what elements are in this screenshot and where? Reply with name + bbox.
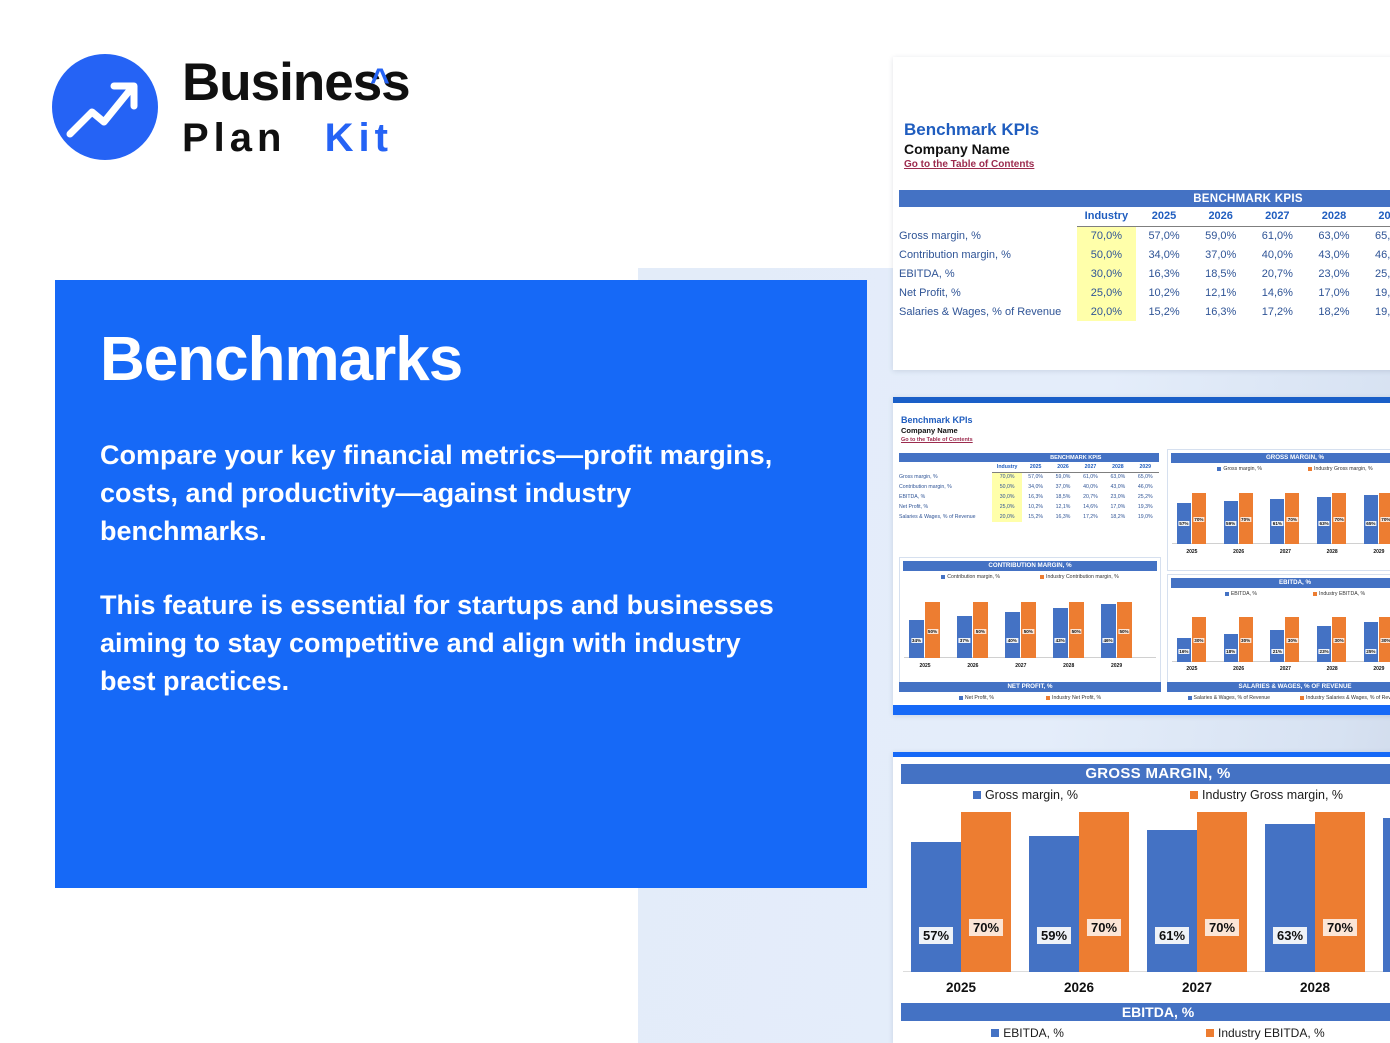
cell-2025: 10,2%	[1022, 502, 1049, 512]
chart-legend: Salaries & Wages, % of Revenue Industry …	[1167, 695, 1390, 701]
cell-industry: 20,0%	[992, 512, 1021, 522]
bar-industry[interactable]: 50%	[973, 602, 988, 658]
bar-industry[interactable]: 50%	[1117, 602, 1132, 658]
cell-2029: 65,0%	[1362, 226, 1390, 245]
legend-label-company: Salaries & Wages, % of Revenue	[1194, 695, 1271, 701]
bar-group[interactable]: 46% 50%	[1101, 602, 1132, 658]
bar-industry[interactable]: 70%	[1079, 812, 1129, 972]
bar-group[interactable]: 57% 70%	[911, 812, 1011, 972]
cell-2029: 25,2%	[1132, 492, 1159, 502]
legend-swatch-company-icon	[959, 696, 963, 700]
cell-2026: 18,5%	[1192, 264, 1249, 283]
table-row[interactable]: Salaries & Wages, % of Revenue 20,0% 15,…	[899, 512, 1159, 522]
chart-legend-gross-margin: Gross margin, % Industry Gross margin, %	[901, 788, 1390, 802]
cell-2028: 23,0%	[1104, 492, 1131, 502]
legend-label-industry: Industry EBITDA, %	[1218, 1026, 1325, 1040]
table-band-label: BENCHMARK KPIS	[1077, 190, 1390, 207]
col-2027: 2027	[1249, 207, 1306, 226]
row-label: Contribution margin, %	[899, 482, 992, 492]
col-2028: 2028	[1306, 207, 1363, 226]
bar-group[interactable]: 16% 30%	[1177, 617, 1206, 662]
chart-legend: Net Profit, % Industry Net Profit, %	[899, 695, 1161, 701]
cell-2025: 57,0%	[1022, 472, 1049, 482]
bar-company[interactable]: 61%	[1270, 499, 1284, 544]
bar-group[interactable]: 59% 70%	[1029, 812, 1129, 972]
x-tick: 2028	[1265, 980, 1365, 995]
bar-company[interactable]: 63%	[1265, 824, 1315, 972]
bar-industry[interactable]: 50%	[1069, 602, 1084, 658]
cell-2029: 19,0%	[1362, 302, 1390, 321]
legend-label-company: Net Profit, %	[965, 695, 994, 701]
cell-2028: 63,0%	[1104, 472, 1131, 482]
x-tick: 2028	[1317, 549, 1347, 555]
logo-word-plan: Plan	[182, 116, 286, 160]
bar-group[interactable]: 57% 70%	[1177, 493, 1206, 544]
toc-link[interactable]: Go to the Table of Contents	[904, 158, 1039, 172]
bar-group[interactable]: 65% 70%	[1383, 812, 1390, 972]
cell-2026: 18,5%	[1049, 492, 1076, 502]
bar-group[interactable]: 37% 50%	[957, 602, 988, 658]
cell-2026: 12,1%	[1049, 502, 1076, 512]
cell-2027: 61,0%	[1077, 472, 1104, 482]
growth-arrow-icon	[52, 54, 158, 160]
cell-2025: 15,2%	[1022, 512, 1049, 522]
cell-2027: 17,2%	[1249, 302, 1306, 321]
bar-group[interactable]: 43% 50%	[1053, 602, 1084, 658]
bar-industry[interactable]: 30%	[1379, 617, 1390, 662]
legend-swatch-company-icon	[973, 791, 981, 799]
sheet-company-name: Company Name	[904, 140, 1039, 158]
bar-group[interactable]: 34% 50%	[909, 602, 940, 658]
cell-2029: 65,0%	[1132, 472, 1159, 482]
cell-industry: 20,0%	[1077, 302, 1136, 321]
cell-2027: 40,0%	[1249, 245, 1306, 264]
legend-swatch-company-icon	[1188, 696, 1192, 700]
x-tick: 2027	[1005, 663, 1037, 669]
chart-title: GROSS MARGIN, %	[1171, 453, 1390, 463]
bar-group[interactable]: 61% 70%	[1270, 493, 1299, 544]
bar-group[interactable]: 61% 70%	[1147, 812, 1247, 972]
legend-swatch-company-icon	[991, 1029, 999, 1037]
bar-value-label: 70%	[1205, 919, 1239, 936]
bar-value-label: 70%	[969, 919, 1003, 936]
legend-label-industry: Industry Gross margin, %	[1314, 466, 1373, 472]
logo-word-kit: Kit	[325, 116, 393, 160]
screenshot-panel-dashboard[interactable]: Benchmark KPIs Company Name Go to the Ta…	[893, 397, 1390, 715]
table-row[interactable]: Net Profit, % 25,0% 10,2% 12,1% 14,6% 17…	[899, 502, 1159, 512]
legend-swatch-industry-icon	[1190, 791, 1198, 799]
chart-contribution-margin-small[interactable]: CONTRIBUTION MARGIN, % Contribution marg…	[899, 557, 1161, 685]
cell-2027: 20,7%	[1249, 264, 1306, 283]
hero-card: Benchmarks Compare your key financial me…	[55, 280, 867, 888]
x-tick: 2029	[1364, 549, 1390, 555]
col-2029: 2029	[1362, 207, 1390, 226]
bar-value-label: 59%	[1037, 927, 1071, 944]
cell-2028: 17,0%	[1104, 502, 1131, 512]
chart-gross-margin-small[interactable]: GROSS MARGIN, % Gross margin, % Industry…	[1167, 449, 1390, 571]
bar-industry[interactable]: 70%	[1285, 493, 1299, 544]
x-tick: 2026	[1224, 549, 1254, 555]
col-2027-mini: 2027	[1077, 462, 1104, 472]
cell-2028: 23,0%	[1306, 264, 1363, 283]
chart-net-profit-small[interactable]: NET PROFIT, % Net Profit, % Industry Net…	[899, 682, 1161, 701]
cell-industry: 25,0%	[992, 502, 1021, 512]
legend-label-company: EBITDA, %	[1003, 1026, 1064, 1040]
cell-2028: 43,0%	[1104, 482, 1131, 492]
legend-swatch-company-icon	[1225, 592, 1229, 596]
chart-legend-ebitda: EBITDA, % Industry EBITDA, %	[901, 1026, 1390, 1040]
row-label: Gross margin, %	[899, 472, 992, 482]
row-label: Contribution margin, %	[899, 245, 1077, 264]
chart-plot-area: 34% 50% 37% 50% 40% 50% 43% 50% 46% 50	[904, 584, 1156, 670]
col-2025: 2025	[1136, 207, 1193, 226]
table-row[interactable]: Contribution margin, % 50,0% 34,0% 37,0%…	[899, 245, 1390, 264]
table-row[interactable]: Salaries & Wages, % of Revenue 20,0% 15,…	[899, 302, 1390, 321]
col-industry: Industry	[1077, 207, 1136, 226]
bar-value-label: 61%	[1155, 927, 1189, 944]
cell-2026: 37,0%	[1192, 245, 1249, 264]
bar-company[interactable]: 37%	[957, 616, 972, 658]
row-label: Net Profit, %	[899, 502, 992, 512]
col-2028-mini: 2028	[1104, 462, 1131, 472]
bar-industry[interactable]: 70%	[1315, 812, 1365, 972]
cell-industry: 30,0%	[992, 492, 1021, 502]
bar-industry[interactable]: 30%	[1192, 617, 1206, 662]
legend-swatch-industry-icon	[1206, 1029, 1214, 1037]
bar-industry[interactable]: 70%	[1192, 493, 1206, 544]
chart-title: NET PROFIT, %	[899, 682, 1161, 692]
panel-top-band	[893, 752, 1390, 757]
x-tick: 2029	[1101, 663, 1133, 669]
x-tick: 2029	[1364, 666, 1390, 672]
bar-company[interactable]: 25%	[1364, 622, 1378, 662]
legend-label-industry: Industry Salaries & Wages, % of Revenue	[1306, 695, 1390, 701]
hero-paragraph-1: Compare your key financial metrics—profi…	[100, 436, 780, 550]
legend-label-company: EBITDA, %	[1231, 591, 1257, 597]
cell-2027: 40,0%	[1077, 482, 1104, 492]
cell-2026: 16,3%	[1192, 302, 1249, 321]
bar-group[interactable]: 59% 70%	[1224, 493, 1253, 544]
cell-2025: 10,2%	[1136, 283, 1193, 302]
legend-label-industry: Industry Contribution margin, %	[1046, 574, 1119, 580]
x-tick: 2028	[1317, 666, 1347, 672]
bar-company[interactable]: 65%	[1364, 495, 1378, 544]
row-label: Gross margin, %	[899, 226, 1077, 245]
bar-group[interactable]: 63% 70%	[1265, 812, 1365, 972]
col-2026: 2026	[1192, 207, 1249, 226]
brand-logo: Business ^ Plan Kit	[52, 52, 452, 162]
bar-industry[interactable]: 70%	[1379, 493, 1390, 544]
cell-2029: 19,3%	[1132, 502, 1159, 512]
cell-2029: 19,3%	[1362, 283, 1390, 302]
cell-2026: 59,0%	[1049, 472, 1076, 482]
legend-swatch-industry-icon	[1040, 575, 1044, 579]
sheet-title-mini: Benchmark KPIs	[901, 415, 973, 426]
bar-group[interactable]: 21% 30%	[1270, 617, 1299, 662]
row-label: EBITDA, %	[899, 492, 992, 502]
bar-value-label: 70%	[1087, 919, 1121, 936]
cell-2027: 14,6%	[1077, 502, 1104, 512]
cell-2029: 25,2%	[1362, 264, 1390, 283]
table-row[interactable]: EBITDA, % 30,0% 16,3% 18,5% 20,7% 23,0% …	[899, 264, 1390, 283]
legend-swatch-industry-icon	[1046, 696, 1050, 700]
legend-label-company: Gross margin, %	[1223, 466, 1262, 472]
cell-2025: 34,0%	[1022, 482, 1049, 492]
chart-title: CONTRIBUTION MARGIN, %	[903, 561, 1157, 571]
cell-industry: 70,0%	[992, 472, 1021, 482]
chart-title: SALARIES & WAGES, % OF REVENUE	[1167, 682, 1390, 692]
cell-industry: 25,0%	[1077, 283, 1136, 302]
hero-paragraph-2: This feature is essential for startups a…	[100, 586, 780, 700]
col-2029-mini: 2029	[1132, 462, 1159, 472]
bar-company[interactable]: 21%	[1270, 630, 1284, 662]
legend-label-industry: Industry Gross margin, %	[1202, 788, 1343, 802]
cell-2026: 59,0%	[1192, 226, 1249, 245]
row-label: Net Profit, %	[899, 283, 1077, 302]
table-row[interactable]: Gross margin, % 70,0% 57,0% 59,0% 61,0% …	[899, 226, 1390, 245]
cell-2026: 12,1%	[1192, 283, 1249, 302]
chart-legend: EBITDA, % Industry EBITDA, %	[1168, 591, 1390, 597]
panel-bottom-band	[893, 705, 1390, 715]
cell-2029: 46,0%	[1132, 482, 1159, 492]
legend-label-company: Contribution margin, %	[947, 574, 1000, 580]
bar-company[interactable]: 34%	[909, 620, 924, 658]
x-tick: 2025	[911, 980, 1011, 995]
cell-industry: 50,0%	[992, 482, 1021, 492]
table-band-label-mini: BENCHMARK KPIS	[992, 453, 1159, 462]
legend-label-industry: Industry EBITDA, %	[1319, 591, 1365, 597]
col-industry-mini: Industry	[992, 462, 1021, 472]
table-header-row: Industry 2025 2026 2027 2028 2029	[899, 207, 1390, 226]
bar-company[interactable]: 16%	[1177, 638, 1191, 662]
bar-group[interactable]: 23% 30%	[1317, 617, 1346, 662]
bar-industry[interactable]: 70%	[961, 812, 1011, 972]
row-label: Salaries & Wages, % of Revenue	[899, 512, 992, 522]
legend-label-industry: Industry Net Profit, %	[1052, 695, 1101, 701]
x-tick: 2025	[1177, 666, 1207, 672]
legend-swatch-industry-icon	[1313, 592, 1317, 596]
screenshot-panel-kpi-table[interactable]: Benchmark KPIs Company Name Go to the Ta…	[893, 57, 1390, 370]
cell-industry: 70,0%	[1077, 226, 1136, 245]
bar-company[interactable]: 65%	[1383, 818, 1390, 972]
cell-2025: 57,0%	[1136, 226, 1193, 245]
bar-company[interactable]: 18%	[1224, 634, 1238, 662]
cell-2028: 18,2%	[1306, 302, 1363, 321]
cell-2026: 16,3%	[1049, 512, 1076, 522]
x-tick: 2027	[1270, 666, 1300, 672]
bar-company[interactable]: 59%	[1224, 501, 1238, 544]
cell-2025: 16,3%	[1136, 264, 1193, 283]
chart-salaries-wages-small[interactable]: SALARIES & WAGES, % OF REVENUE Salaries …	[1167, 682, 1390, 701]
chart-title: EBITDA, %	[1171, 578, 1390, 588]
bar-company[interactable]: 57%	[1177, 503, 1191, 544]
slide-canvas: Business ^ Plan Kit Benchmarks Compare y…	[0, 0, 1390, 1043]
bar-industry[interactable]: 70%	[1239, 493, 1253, 544]
bar-company[interactable]: 63%	[1317, 497, 1331, 544]
x-tick: 2026	[957, 663, 989, 669]
chart-title-gross-margin: GROSS MARGIN, %	[901, 764, 1390, 784]
x-tick: 2026	[1029, 980, 1129, 995]
bar-company[interactable]: 59%	[1029, 836, 1079, 972]
bar-value-label: 70%	[1323, 919, 1357, 936]
bar-value-label: 57%	[919, 927, 953, 944]
x-tick: 2028	[1053, 663, 1085, 669]
panel-top-band	[893, 397, 1390, 403]
screenshot-panel-gross-margin-chart[interactable]: GROSS MARGIN, % Gross margin, % Industry…	[893, 752, 1390, 1043]
bar-value-label: 63%	[1273, 927, 1307, 944]
cell-2029: 46,0%	[1362, 245, 1390, 264]
bar-group[interactable]: 18% 30%	[1224, 617, 1253, 662]
bar-group[interactable]: 40% 50%	[1005, 602, 1036, 658]
bar-industry[interactable]: 30%	[1239, 617, 1253, 662]
cell-industry: 50,0%	[1077, 245, 1136, 264]
x-tick: 2025	[1177, 549, 1207, 555]
cell-2027: 17,2%	[1077, 512, 1104, 522]
cell-2027: 14,6%	[1249, 283, 1306, 302]
cell-2029: 19,0%	[1132, 512, 1159, 522]
table-row[interactable]: Net Profit, % 25,0% 10,2% 12,1% 14,6% 17…	[899, 283, 1390, 302]
x-tick: 2027	[1270, 549, 1300, 555]
bar-industry[interactable]: 30%	[1332, 617, 1346, 662]
bar-group[interactable]: 65% 70%	[1364, 493, 1390, 544]
cell-2028: 43,0%	[1306, 245, 1363, 264]
cell-2027: 61,0%	[1249, 226, 1306, 245]
cell-industry: 30,0%	[1077, 264, 1136, 283]
row-label: Salaries & Wages, % of Revenue	[899, 302, 1077, 321]
cell-2028: 63,0%	[1306, 226, 1363, 245]
chart-legend: Contribution margin, % Industry Contribu…	[900, 574, 1160, 580]
toc-link-mini[interactable]: Go to the Table of Contents	[901, 436, 973, 444]
chart-plot-area: 57% 70% 59% 70% 61% 70% 63% 70% 65% 70	[1172, 476, 1390, 556]
legend-label-company: Gross margin, %	[985, 788, 1078, 802]
cell-2026: 37,0%	[1049, 482, 1076, 492]
bar-industry[interactable]: 30%	[1285, 617, 1299, 662]
bar-company[interactable]: 43%	[1053, 608, 1068, 658]
x-tick: 2029	[1383, 980, 1390, 995]
cell-2027: 20,7%	[1077, 492, 1104, 502]
cell-2028: 17,0%	[1306, 283, 1363, 302]
chart-plot-area: 16% 30% 18% 30% 21% 30% 23% 30% 25% 30	[1172, 601, 1390, 673]
chart-ebitda-small[interactable]: EBITDA, % EBITDA, % Industry EBITDA, % 1…	[1167, 574, 1390, 687]
page-title: Benchmarks	[100, 322, 780, 398]
legend-swatch-company-icon	[941, 575, 945, 579]
table-row[interactable]: EBITDA, % 30,0% 16,3% 18,5% 20,7% 23,0% …	[899, 492, 1159, 502]
bar-industry[interactable]: 70%	[1332, 493, 1346, 544]
cell-2025: 15,2%	[1136, 302, 1193, 321]
bar-group[interactable]: 25% 30%	[1364, 617, 1390, 662]
sheet-title: Benchmark KPIs	[904, 119, 1039, 140]
x-tick: 2027	[1147, 980, 1247, 995]
bar-industry[interactable]: 50%	[925, 602, 940, 658]
chart-legend: Gross margin, % Industry Gross margin, %	[1168, 466, 1390, 472]
table-row[interactable]: Gross margin, % 70,0% 57,0% 59,0% 61,0% …	[899, 472, 1159, 482]
logo-circumflex-icon: ^	[370, 50, 389, 112]
legend-swatch-industry-icon	[1308, 467, 1312, 471]
bar-company[interactable]: 57%	[911, 842, 961, 972]
cell-2028: 18,2%	[1104, 512, 1131, 522]
table-row[interactable]: Contribution margin, % 50,0% 34,0% 37,0%…	[899, 482, 1159, 492]
bar-industry[interactable]: 50%	[1021, 602, 1036, 658]
chart-title-ebitda: EBITDA, %	[901, 1003, 1390, 1021]
col-2026-mini: 2026	[1049, 462, 1076, 472]
sheet-company-name-mini: Company Name	[901, 426, 973, 436]
table-band-row: BENCHMARK KPIS	[899, 190, 1390, 207]
bar-company[interactable]: 40%	[1005, 612, 1020, 658]
bar-company[interactable]: 23%	[1317, 626, 1331, 662]
x-tick: 2025	[909, 663, 941, 669]
bar-group[interactable]: 63% 70%	[1317, 493, 1346, 544]
cell-2025: 16,3%	[1022, 492, 1049, 502]
bar-company[interactable]: 46%	[1101, 604, 1116, 658]
bar-company[interactable]: 61%	[1147, 830, 1197, 972]
row-label: EBITDA, %	[899, 264, 1077, 283]
chart-plot-area-gross-margin: 57% 70% 59% 70% 61% 70% 63%	[903, 814, 1390, 999]
bar-industry[interactable]: 70%	[1197, 812, 1247, 972]
x-tick: 2026	[1224, 666, 1254, 672]
cell-2025: 34,0%	[1136, 245, 1193, 264]
legend-swatch-industry-icon	[1300, 696, 1304, 700]
col-2025-mini: 2025	[1022, 462, 1049, 472]
legend-swatch-company-icon	[1217, 467, 1221, 471]
